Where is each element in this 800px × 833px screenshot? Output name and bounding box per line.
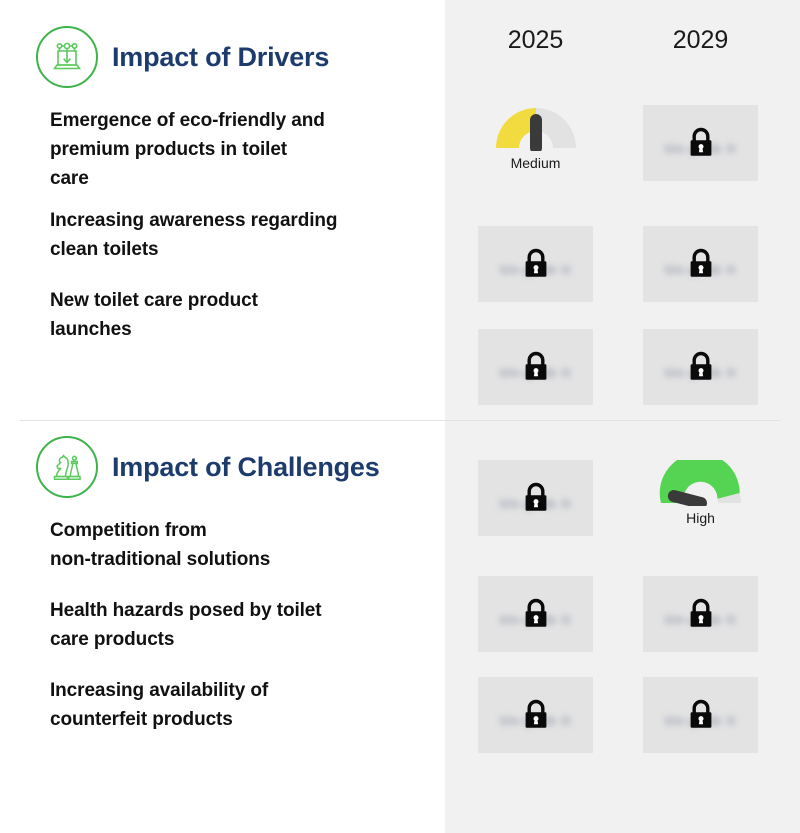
item-line: care	[50, 164, 422, 193]
section-header-challenges: Impact of Challenges	[36, 436, 380, 498]
gauge-cell[interactable]: High	[643, 460, 758, 536]
column-header-2025: 2025	[478, 26, 593, 55]
list-item: Increasing awareness regarding clean toi…	[50, 206, 422, 286]
section-divider	[20, 420, 780, 421]
lock-icon	[686, 247, 716, 281]
laptop-download-arrow-icon	[36, 26, 98, 88]
lock-icon	[521, 698, 551, 732]
locked-cell[interactable]: Un-grab it	[478, 677, 593, 753]
locked-cell[interactable]: Un-grab it	[478, 460, 593, 536]
lock-icon	[521, 597, 551, 631]
lock-icon	[686, 597, 716, 631]
locked-cell[interactable]: Un-grab it	[478, 226, 593, 302]
chess-pieces-icon	[36, 436, 98, 498]
locked-cell[interactable]: Un-grab it	[478, 329, 593, 405]
item-line: clean toilets	[50, 235, 422, 264]
item-line: Health hazards posed by toilet	[50, 596, 422, 625]
lock-icon	[521, 481, 551, 515]
locked-cell[interactable]: Un-grab it	[478, 576, 593, 652]
driver-items-list: Emergence of eco-friendly and premium pr…	[50, 106, 422, 366]
item-line: counterfeit products	[50, 705, 422, 734]
item-line: New toilet care product	[50, 286, 422, 315]
item-line: Competition from	[50, 516, 422, 545]
column-header-2029: 2029	[643, 26, 758, 55]
lock-icon	[686, 350, 716, 384]
section-title-drivers: Impact of Drivers	[112, 42, 329, 73]
item-line: care products	[50, 625, 422, 654]
list-item: New toilet care product launches	[50, 286, 422, 366]
gauge-cell[interactable]: Medium	[478, 105, 593, 181]
section-header-drivers: Impact of Drivers	[36, 26, 329, 88]
locked-cell[interactable]: Un-grab it	[643, 677, 758, 753]
lock-icon	[521, 350, 551, 384]
locked-cell[interactable]: Un-grab it	[643, 226, 758, 302]
section-title-challenges: Impact of Challenges	[112, 452, 380, 483]
item-line: non-traditional solutions	[50, 545, 422, 574]
locked-cell[interactable]: Un-grab it	[643, 329, 758, 405]
item-line: Increasing awareness regarding	[50, 206, 422, 235]
list-item: Emergence of eco-friendly and premium pr…	[50, 106, 422, 206]
gauge-dial	[494, 105, 578, 151]
gauge-dial	[659, 460, 743, 506]
gauge-level-label: High	[686, 510, 715, 526]
lock-icon	[521, 247, 551, 281]
locked-cell[interactable]: Un-grab it	[643, 105, 758, 181]
impact-matrix-page: 2025 2029 Impact of Drivers Emergence of…	[0, 0, 800, 833]
item-line: Increasing availability of	[50, 676, 422, 705]
item-line: Emergence of eco-friendly and	[50, 106, 422, 135]
list-item: Health hazards posed by toilet care prod…	[50, 596, 422, 676]
gauge-level-label: Medium	[511, 155, 561, 171]
item-line: launches	[50, 315, 422, 344]
challenge-items-list: Competition from non-traditional solutio…	[50, 516, 422, 756]
item-line: premium products in toilet	[50, 135, 422, 164]
list-item: Competition from non-traditional solutio…	[50, 516, 422, 596]
list-item: Increasing availability of counterfeit p…	[50, 676, 422, 756]
lock-icon	[686, 698, 716, 732]
lock-icon	[686, 126, 716, 160]
locked-cell[interactable]: Un-grab it	[643, 576, 758, 652]
